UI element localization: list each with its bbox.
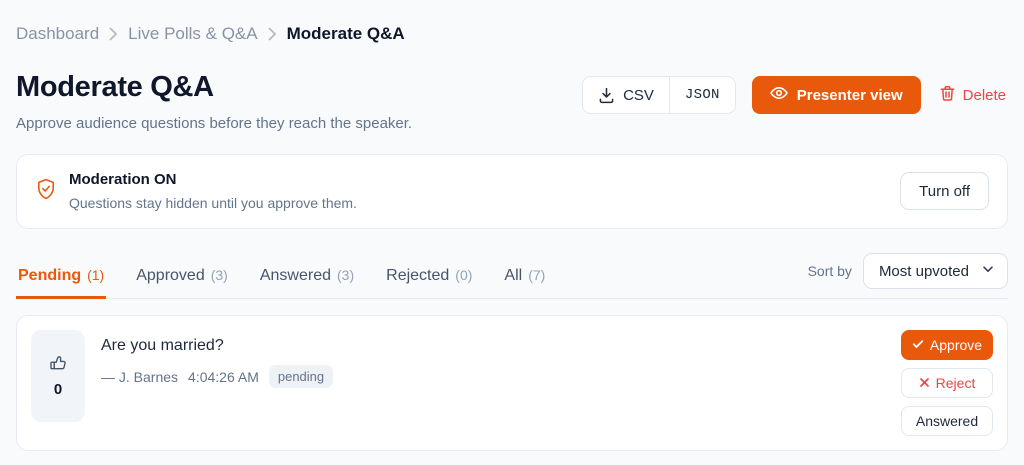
trash-icon [939, 85, 956, 106]
moderation-title: Moderation ON [69, 170, 357, 190]
tab-pending[interactable]: Pending (1) [16, 267, 106, 299]
tab-list: Pending (1) Approved (3) Answered (3) Re… [16, 267, 547, 298]
breadcrumb-item-dashboard[interactable]: Dashboard [16, 24, 99, 44]
page-subtitle: Approve audience questions before they r… [16, 115, 412, 132]
page-title: Moderate Q&A [16, 72, 412, 104]
sort-select[interactable]: Most upvoted [863, 253, 1008, 289]
question-time: 4:04:26 AM [188, 369, 259, 385]
tabs-row: Pending (1) Approved (3) Answered (3) Re… [16, 253, 1008, 299]
reject-button[interactable]: Reject [901, 368, 993, 398]
chevron-right-icon [268, 27, 277, 41]
breadcrumb-item-live-polls[interactable]: Live Polls & Q&A [128, 24, 257, 44]
header-actions: CSV JSON Presenter view [582, 70, 1008, 114]
chevron-down-icon [981, 262, 995, 280]
tab-pending-count: (1) [87, 267, 104, 283]
tab-approved-label: Approved [136, 267, 205, 285]
vote-box[interactable]: 0 [31, 330, 85, 422]
tab-rejected[interactable]: Rejected (0) [384, 267, 474, 299]
moderation-banner: Moderation ON Questions stay hidden unti… [16, 154, 1008, 229]
tab-approved[interactable]: Approved (3) [134, 267, 230, 299]
tab-all[interactable]: All (7) [502, 267, 547, 299]
presenter-view-label: Presenter view [797, 87, 903, 104]
answered-button[interactable]: Answered [901, 406, 993, 436]
export-button-group: CSV JSON [582, 76, 736, 114]
check-icon [912, 337, 924, 353]
question-actions: Approve Reject Answered [901, 330, 993, 436]
delete-label: Delete [963, 87, 1006, 104]
tab-answered-label: Answered [260, 267, 331, 285]
delete-button[interactable]: Delete [937, 76, 1008, 114]
question-card: 0 Are you married? — J. Barnes 4:04:26 A… [16, 315, 1008, 451]
moderation-texts: Moderation ON Questions stay hidden unti… [69, 170, 357, 213]
page-header-text: Moderate Q&A Approve audience questions … [16, 70, 412, 132]
sort-label: Sort by [808, 263, 852, 279]
approve-button[interactable]: Approve [901, 330, 993, 360]
breadcrumb: Dashboard Live Polls & Q&A Moderate Q&A [16, 20, 1008, 48]
sort-control: Sort by Most upvoted [808, 253, 1008, 298]
page-root: Dashboard Live Polls & Q&A Moderate Q&A … [0, 0, 1024, 451]
close-icon [919, 375, 930, 391]
moderation-toggle-button[interactable]: Turn off [900, 172, 989, 210]
tab-pending-label: Pending [18, 267, 81, 285]
export-csv-button[interactable]: CSV [583, 77, 669, 113]
question-author: — J. Barnes [101, 369, 178, 385]
chevron-right-icon [109, 27, 118, 41]
presenter-view-button[interactable]: Presenter view [752, 76, 921, 114]
breadcrumb-item-current: Moderate Q&A [287, 24, 405, 44]
export-json-button[interactable]: JSON [669, 77, 735, 113]
question-text: Are you married? [101, 337, 885, 355]
eye-icon [770, 84, 788, 106]
export-csv-label: CSV [623, 87, 654, 104]
shield-check-icon [35, 178, 57, 205]
thumbs-up-icon [49, 354, 68, 378]
approve-label: Approve [930, 337, 982, 353]
tab-approved-count: (3) [211, 267, 228, 283]
question-content: Are you married? — J. Barnes 4:04:26 AM … [101, 330, 885, 388]
tab-rejected-label: Rejected [386, 267, 449, 285]
reject-label: Reject [936, 375, 976, 391]
tab-rejected-count: (0) [455, 267, 472, 283]
moderation-info: Moderation ON Questions stay hidden unti… [35, 170, 357, 213]
status-badge: pending [269, 365, 333, 388]
tab-answered-count: (3) [337, 267, 354, 283]
tab-all-label: All [504, 267, 522, 285]
page-header: Moderate Q&A Approve audience questions … [16, 70, 1008, 132]
vote-count: 0 [54, 381, 62, 398]
download-icon [598, 87, 615, 104]
tab-answered[interactable]: Answered (3) [258, 267, 356, 299]
tab-all-count: (7) [528, 267, 545, 283]
question-meta: — J. Barnes 4:04:26 AM pending [101, 365, 885, 388]
moderation-description: Questions stay hidden until you approve … [69, 194, 357, 213]
sort-select-value: Most upvoted [879, 263, 969, 280]
